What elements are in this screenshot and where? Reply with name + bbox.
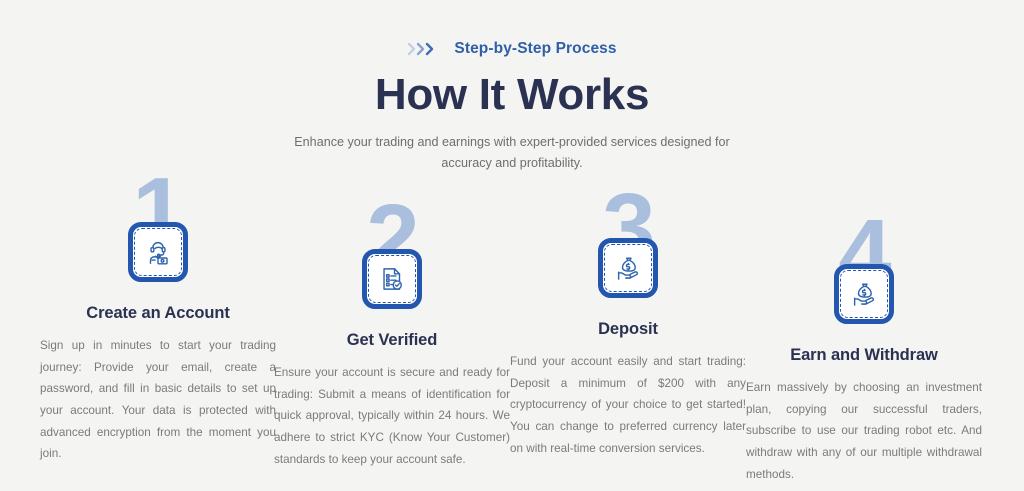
- step-icon-box-2: [362, 249, 422, 309]
- step-title-2: Get Verified: [274, 331, 510, 350]
- step-icon-box-3: [598, 238, 658, 298]
- step-badge-4: 4: [746, 212, 982, 340]
- step-badge-3: 3: [510, 186, 746, 314]
- step-card-3: 3 Deposit Fund your account e: [510, 186, 746, 459]
- section-eyebrow-label: Step-by-Step Process: [454, 40, 616, 58]
- step-body-4: Earn massively by choosing an investment…: [746, 377, 982, 485]
- page-title: How It Works: [0, 72, 1024, 118]
- step-icon-box-1: [128, 222, 188, 282]
- document-checkmark-verify-icon: [377, 264, 407, 294]
- steps-container: 1: [0, 170, 1024, 491]
- step-title-1: Create an Account: [40, 304, 276, 323]
- step-body-2: Ensure your account is secure and ready …: [274, 362, 510, 470]
- step-body-1: Sign up in minutes to start your trading…: [40, 335, 276, 465]
- step-badge-1: 1: [40, 170, 276, 298]
- hand-holding-money-bag-icon: [613, 253, 643, 283]
- step-title-3: Deposit: [510, 320, 746, 339]
- step-body-3: Fund your account easily and start tradi…: [510, 351, 746, 459]
- step-card-1: 1: [40, 170, 276, 465]
- step-icon-box-4: [834, 264, 894, 324]
- hand-holding-money-bag-icon: [849, 279, 879, 309]
- double-chevron-right-icon: [407, 41, 445, 57]
- step-title-4: Earn and Withdraw: [746, 346, 982, 365]
- step-card-4: 4 Earn and Withdraw Earn mass: [746, 212, 982, 485]
- step-card-2: 2 Get V: [274, 197, 510, 470]
- section-header: Step-by-Step Process How It Works Enhanc…: [0, 0, 1024, 174]
- section-subtitle: Enhance your trading and earnings with e…: [277, 132, 747, 174]
- headset-support-agent-icon: [143, 237, 173, 267]
- step-badge-2: 2: [274, 197, 510, 325]
- eyebrow-row: Step-by-Step Process: [0, 38, 1024, 60]
